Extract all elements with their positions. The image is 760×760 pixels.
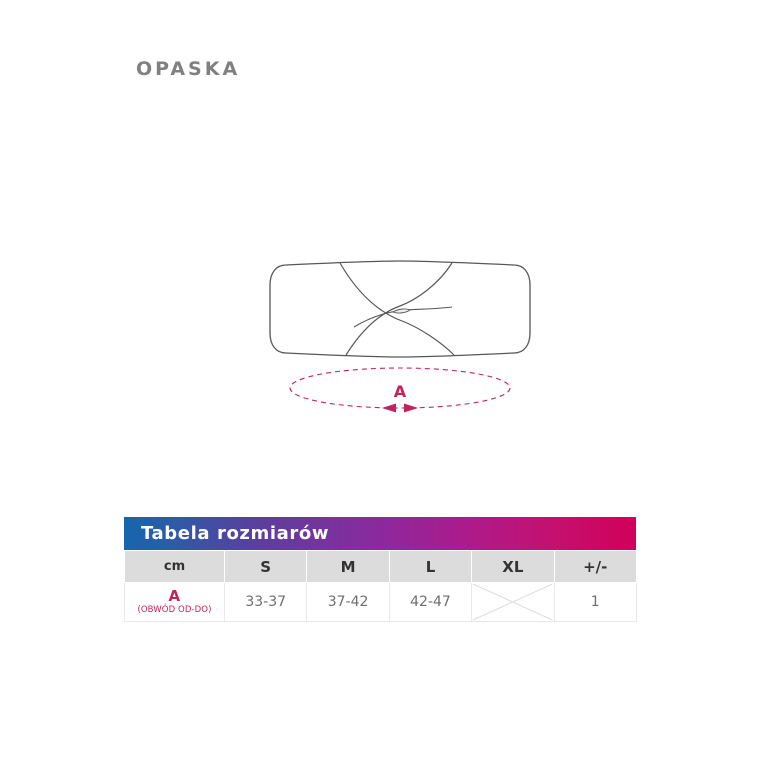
column-header-l: L <box>389 551 471 583</box>
measurement-letter: A <box>125 589 224 605</box>
table-row: A (OBWÓD OD-DO) 33-37 37-42 42-47 1 <box>125 583 637 622</box>
size-table-grid: cm S M L XL +/- A (OBWÓD OD-DO) 33-37 37… <box>124 550 637 622</box>
column-header-m: M <box>307 551 389 583</box>
measurement-label-a: A <box>394 382 407 401</box>
column-header-tolerance: +/- <box>554 551 636 583</box>
cross-out-icon <box>472 583 553 621</box>
size-table: Tabela rozmiarów cm S M L XL +/- A <box>124 517 636 622</box>
cell-tolerance: 1 <box>554 583 636 622</box>
measurement-description: (OBWÓD OD-DO) <box>125 606 224 615</box>
size-table-header-bar: Tabela rozmiarów <box>124 517 636 550</box>
measurement-guide: A <box>290 368 510 413</box>
cell-size-s: 33-37 <box>225 583 307 622</box>
column-header-xl: XL <box>472 551 554 583</box>
column-header-s: S <box>225 551 307 583</box>
cell-size-xl-unavailable <box>472 583 554 622</box>
size-table-header-row: cm S M L XL +/- <box>125 551 637 583</box>
column-header-unit: cm <box>125 551 225 583</box>
size-table-title: Tabela rozmiarów <box>124 523 329 544</box>
measurement-name-cell: A (OBWÓD OD-DO) <box>125 583 225 622</box>
cell-size-m: 37-42 <box>307 583 389 622</box>
cell-size-l: 42-47 <box>389 583 471 622</box>
measurement-arrows-icon <box>382 404 418 413</box>
page-title: OPASKA <box>136 58 240 80</box>
product-illustration: A <box>250 245 550 420</box>
